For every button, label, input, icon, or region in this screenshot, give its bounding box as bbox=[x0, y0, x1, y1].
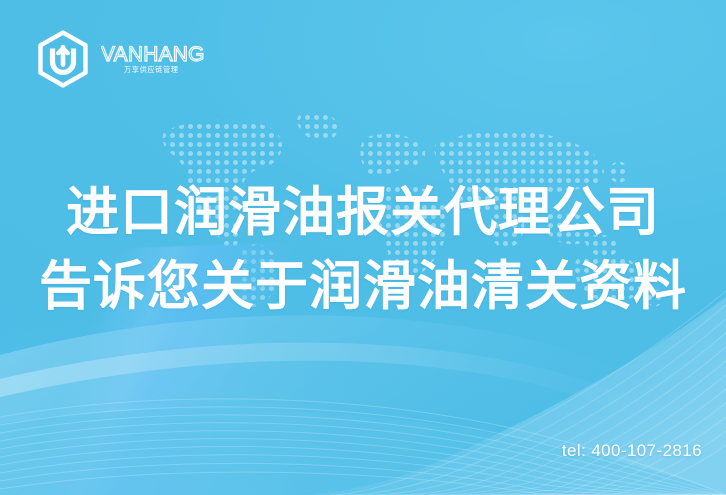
headline-line-1: 进口润滑油报关代理公司 bbox=[0, 176, 726, 250]
vanhang-wordmark: VANHANG 万享供应链管理 bbox=[101, 39, 219, 79]
wordmark-subtitle: 万享供应链管理 bbox=[124, 65, 179, 74]
promo-banner: VANHANG 万享供应链管理 进口润滑油报关代理公司 告诉您关于润滑油清关资料… bbox=[0, 0, 726, 495]
logo-lockup[interactable]: VANHANG 万享供应链管理 bbox=[34, 30, 219, 88]
page-title: 进口润滑油报关代理公司 告诉您关于润滑油清关资料 bbox=[0, 176, 726, 324]
vanhang-hexagon-icon bbox=[34, 30, 92, 88]
contact-telephone[interactable]: tel: 400-107-2816 bbox=[562, 441, 702, 461]
wordmark-text: VANHANG bbox=[101, 43, 205, 66]
headline-line-2: 告诉您关于润滑油清关资料 bbox=[0, 250, 726, 324]
